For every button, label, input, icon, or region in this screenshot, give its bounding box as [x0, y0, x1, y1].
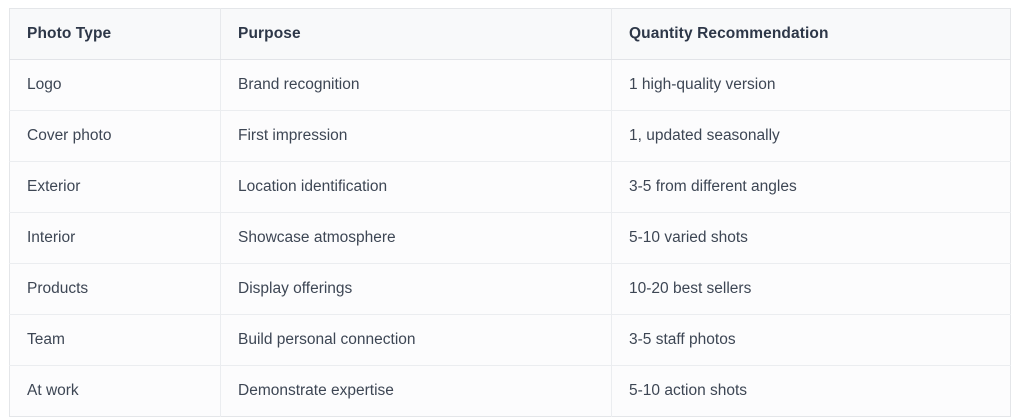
- cell-photo-type: At work: [10, 366, 221, 417]
- cell-quantity: 1 high-quality version: [612, 60, 1011, 111]
- table-header: Photo Type Purpose Quantity Recommendati…: [10, 9, 1011, 60]
- table-row: Team Build personal connection 3-5 staff…: [10, 315, 1011, 366]
- cell-purpose: Showcase atmosphere: [221, 213, 612, 264]
- cell-photo-type: Logo: [10, 60, 221, 111]
- cell-photo-type: Exterior: [10, 162, 221, 213]
- table-row: Products Display offerings 10-20 best se…: [10, 264, 1011, 315]
- column-header-purpose: Purpose: [221, 9, 612, 60]
- cell-quantity: 5-10 action shots: [612, 366, 1011, 417]
- table-row: Interior Showcase atmosphere 5-10 varied…: [10, 213, 1011, 264]
- table-header-row: Photo Type Purpose Quantity Recommendati…: [10, 9, 1011, 60]
- cell-photo-type: Interior: [10, 213, 221, 264]
- table-body: Logo Brand recognition 1 high-quality ve…: [10, 60, 1011, 417]
- photo-type-recommendations-table: Photo Type Purpose Quantity Recommendati…: [9, 8, 1011, 417]
- cell-quantity: 10-20 best sellers: [612, 264, 1011, 315]
- cell-photo-type: Team: [10, 315, 221, 366]
- cell-photo-type: Products: [10, 264, 221, 315]
- cell-purpose: First impression: [221, 111, 612, 162]
- cell-quantity: 3-5 from different angles: [612, 162, 1011, 213]
- cell-photo-type: Cover photo: [10, 111, 221, 162]
- column-header-quantity-recommendation: Quantity Recommendation: [612, 9, 1011, 60]
- table-row: Cover photo First impression 1, updated …: [10, 111, 1011, 162]
- cell-purpose: Display offerings: [221, 264, 612, 315]
- cell-quantity: 1, updated seasonally: [612, 111, 1011, 162]
- cell-purpose: Build personal connection: [221, 315, 612, 366]
- table-row: Exterior Location identification 3-5 fro…: [10, 162, 1011, 213]
- table-row: Logo Brand recognition 1 high-quality ve…: [10, 60, 1011, 111]
- cell-purpose: Demonstrate expertise: [221, 366, 612, 417]
- table-row: At work Demonstrate expertise 5-10 actio…: [10, 366, 1011, 417]
- column-header-photo-type: Photo Type: [10, 9, 221, 60]
- cell-quantity: 3-5 staff photos: [612, 315, 1011, 366]
- cell-purpose: Brand recognition: [221, 60, 612, 111]
- document-page: Photo Type Purpose Quantity Recommendati…: [0, 0, 1020, 420]
- cell-purpose: Location identification: [221, 162, 612, 213]
- cell-quantity: 5-10 varied shots: [612, 213, 1011, 264]
